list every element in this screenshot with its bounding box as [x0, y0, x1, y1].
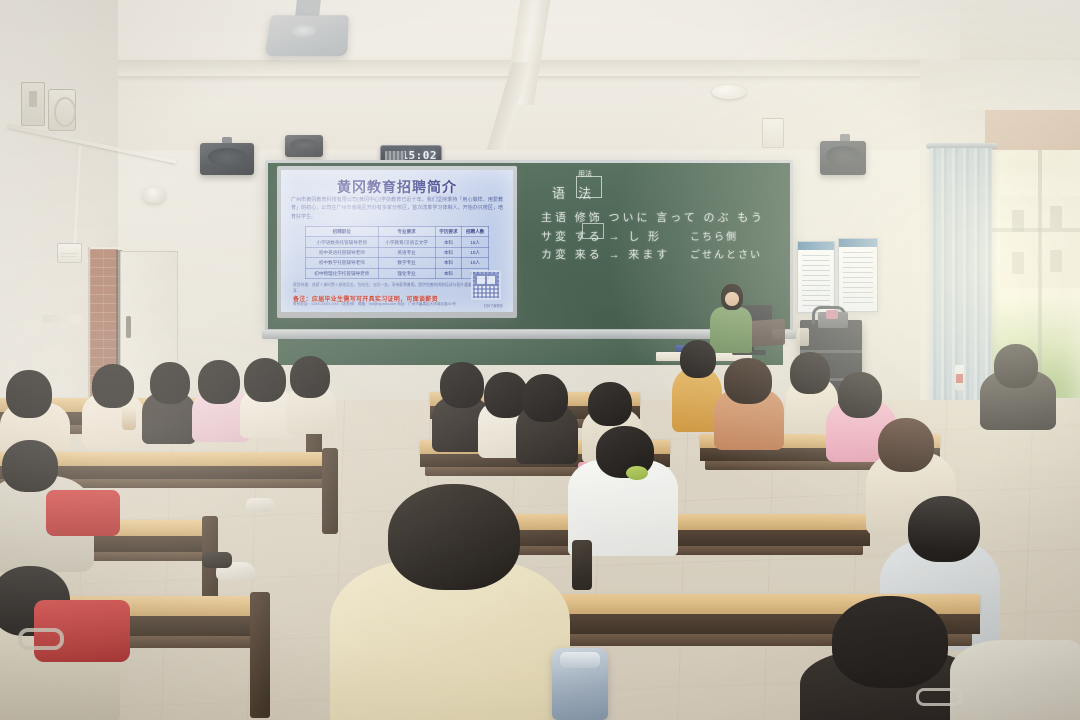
speaker-icon-center: [285, 135, 323, 157]
water-bottle-foreground: [552, 648, 608, 720]
student-head: [878, 418, 934, 472]
bench-seat: [507, 546, 862, 555]
student-head: [994, 344, 1038, 388]
hair-scrunchie: [626, 466, 648, 480]
wall-control-panel-icon: [48, 89, 76, 131]
student-s21-shoulder: [950, 640, 1080, 720]
teacher-face: [725, 292, 739, 306]
desk-skirt: [500, 530, 870, 546]
table-header-row: 招聘职位 专业要求 学历要求 招聘人数: [306, 227, 489, 237]
projector-mount: [295, 0, 321, 16]
student-head: [522, 374, 568, 422]
teacher-body: [710, 307, 752, 353]
thermos-bottle: [572, 540, 592, 590]
bottle-cap: [560, 652, 600, 668]
table-cell: 本科: [435, 237, 462, 247]
ceiling-vent: [762, 118, 784, 148]
table-cell: 初中物理化学托管辅导老师: [306, 268, 379, 278]
pink-pouch: [826, 310, 838, 319]
table-row: 初中英语托管辅导老师 英语专业 本科 10人: [306, 247, 489, 257]
table-row: 初中物理化学托管辅导老师 理化专业 本科 10人: [306, 268, 489, 278]
table-row: 小学语数英托管辅导老师 小学教育/汉语言文学 本科 15人: [306, 237, 489, 247]
exterior-building-window: [1050, 206, 1062, 228]
bench-end-panel: [322, 448, 338, 534]
classroom-photo: 15:02 语 法 用法 主语 修饰 ついに 言って のぶ もう サ変 する →…: [0, 0, 1080, 720]
table-cell-count: 10人: [462, 247, 489, 257]
notice-poster-left: [797, 241, 835, 313]
poster-text-lines: [843, 252, 873, 306]
speaker-icon-right: [820, 141, 866, 175]
window-mullion-horizontal: [985, 228, 1080, 232]
student-head: [6, 370, 52, 418]
table-cell: 小学语数英托管辅导老师: [306, 237, 379, 247]
door-handle-icon[interactable]: [126, 316, 131, 338]
student-head: [724, 358, 772, 404]
table-cell: 本科: [435, 268, 462, 278]
glass-jar: [797, 328, 809, 346]
table-cell-count: 15人: [462, 237, 489, 247]
drink-cup: [122, 406, 136, 430]
chalk-box-outline: [576, 176, 602, 198]
slide-paragraph: 广州市黄冈教育科技有限公司(黄冈中心)学前教育已近十年，我们坚持秉持「用心做样、…: [291, 196, 503, 221]
student-head: [290, 356, 330, 398]
eyeglasses-icon: [916, 688, 962, 706]
shoe-dark: [202, 552, 232, 568]
slide-title: 黄冈教育招聘简介: [281, 177, 513, 197]
slide-contact-info: 联系电话：13XX-XXXX-XXX（张老师） 邮箱：rsb@hg-edu.co…: [293, 301, 456, 307]
smoke-detector-icon: [712, 85, 746, 99]
table-cell: 英语专业: [378, 247, 435, 257]
table-cell: 理化专业: [378, 268, 435, 278]
table-header-cell: 招聘职位: [306, 227, 379, 237]
student-head: [198, 360, 240, 404]
poster-text-lines: [802, 255, 830, 307]
table-cell: 初中英语托管辅导老师: [306, 247, 379, 257]
exterior-eave: [985, 110, 1080, 152]
projector-icon: [265, 15, 349, 56]
desk-top: [500, 514, 870, 530]
red-backpack: [46, 490, 120, 536]
light-switch-plate[interactable]: [57, 243, 82, 263]
sneaker-back: [246, 498, 274, 512]
student-head: [680, 340, 716, 378]
student-head: [440, 362, 484, 408]
poster-header-bar: [798, 242, 834, 250]
table-row: 初中数学托管辅导老师 数学专业 本科 10人: [306, 258, 489, 268]
table-cell: 初中数学托管辅导老师: [306, 258, 379, 268]
chalk-box-outline-2: [582, 223, 604, 239]
student-head: [150, 362, 190, 404]
table-cell-count: 10人: [462, 258, 489, 268]
bench-end-panel: [250, 592, 270, 718]
qr-code-icon: [471, 270, 501, 300]
student-head: [790, 352, 830, 394]
table-cell: 本科: [435, 247, 462, 257]
table-header-cell: 招聘人数: [462, 227, 489, 237]
student-head: [588, 382, 632, 426]
dome-camera-icon: [143, 187, 165, 203]
poster-header-bar: [839, 239, 877, 247]
student-head: [92, 364, 134, 408]
qr-code-label: 扫码了解更多: [484, 303, 503, 308]
exterior-building-window: [1012, 252, 1024, 274]
student-head: [388, 484, 520, 590]
table-cell: 本科: [435, 258, 462, 268]
table-cell: 小学教育/汉语言文学: [378, 237, 435, 247]
water-bottle: [955, 365, 964, 391]
electrical-panel-icon: [21, 82, 45, 126]
projected-slide: 黄冈教育招聘简介 广州市黄冈教育科技有限公司(黄冈中心)学前教育已近十年，我们坚…: [281, 170, 513, 312]
table-header-cell: 专业要求: [378, 227, 435, 237]
notice-poster-right: [838, 238, 878, 312]
slide-footer-note: 薪资待遇：底薪＋课时费＋绩效奖金，包吃住，五险一金，享带薪寒暑假，提供完善的岗前…: [293, 282, 501, 295]
wall-outlet-strip: [43, 315, 81, 323]
eyeglasses-left-icon: [18, 628, 64, 650]
slide-table: 招聘职位 专业要求 学历要求 招聘人数 小学语数英托管辅导老师 小学教育/汉语言…: [305, 226, 489, 279]
speaker-icon-left: [200, 143, 254, 175]
student-head: [2, 440, 58, 492]
table-cell: 数学专业: [378, 258, 435, 268]
student-head: [838, 372, 882, 418]
student-head: [832, 596, 948, 688]
student-head: [244, 358, 286, 402]
student-head: [908, 496, 980, 562]
exterior-building-window: [1050, 250, 1062, 272]
table-header-cell: 学历要求: [435, 227, 462, 237]
